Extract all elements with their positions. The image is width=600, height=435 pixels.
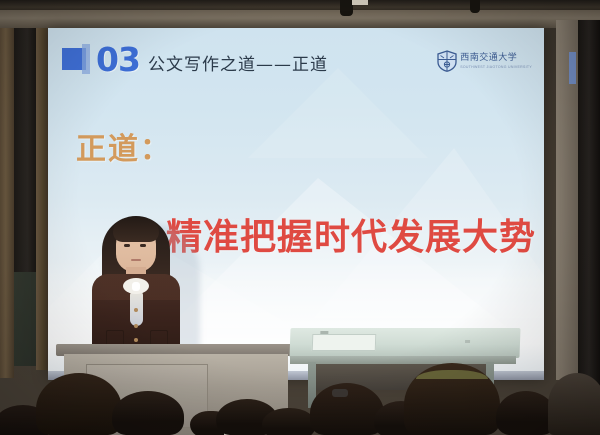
- desk-marking: [465, 340, 470, 343]
- university-name-block: 西南交通大学 SOUTHWEST JIAOTONG UNIVERSITY: [460, 54, 532, 69]
- presenter-eye: [140, 244, 146, 247]
- desk-inset-panel: [312, 334, 377, 351]
- chalkboard-frame-outer: [0, 18, 14, 378]
- slide-section-number: 03: [96, 40, 140, 79]
- cardigan-button: [134, 338, 138, 342]
- university-shield-logo-icon: [437, 50, 457, 72]
- slide-header: 03 公文写作之道——正道 西南交通大学 SOUTHWEST JIAOTONG: [48, 28, 544, 90]
- slide-headline: 精准把握时代发展大势: [166, 208, 536, 260]
- blue-accent-tab: [569, 52, 576, 84]
- header-square-accent: [82, 44, 90, 74]
- audience-head: [262, 408, 316, 435]
- slide-title: 公文写作之道——正道: [148, 50, 328, 75]
- rail-clip: [352, 0, 368, 5]
- desk-marking: [320, 331, 328, 334]
- presenter: [82, 212, 190, 352]
- cardigan-button: [134, 324, 138, 328]
- cardigan-button: [134, 308, 138, 312]
- presenter-bow-knot: [132, 282, 140, 291]
- university-name-cn: 西南交通大学: [460, 54, 532, 63]
- university-logo: 西南交通大学 SOUTHWEST JIAOTONG UNIVERSITY: [437, 50, 532, 72]
- slide-lead-label: 正道：: [76, 124, 172, 168]
- audience-head: [36, 373, 122, 435]
- audience-head: [496, 391, 556, 435]
- presenter-mouth: [131, 259, 141, 261]
- audience-hairband: [416, 370, 488, 379]
- presenter-fringe: [113, 218, 159, 242]
- university-name-latin: SOUTHWEST JIAOTONG UNIVERSITY: [460, 65, 532, 69]
- chalkboard-shadow-strip: [14, 22, 36, 272]
- ceiling-track-rail-lower: [0, 10, 600, 28]
- rail-bracket: [470, 0, 480, 13]
- audience-head-with-cap: [548, 373, 600, 435]
- presenter-eye: [124, 244, 130, 247]
- lecture-hall-photo: 03 公文写作之道——正道 西南交通大学 SOUTHWEST JIAOTONG: [0, 0, 600, 435]
- audience-head: [112, 391, 184, 435]
- chalkboard-frame-inner: [36, 20, 48, 370]
- audience-seating: [0, 355, 600, 435]
- desk-surface: [289, 328, 520, 358]
- audience-hair-clip: [332, 389, 348, 397]
